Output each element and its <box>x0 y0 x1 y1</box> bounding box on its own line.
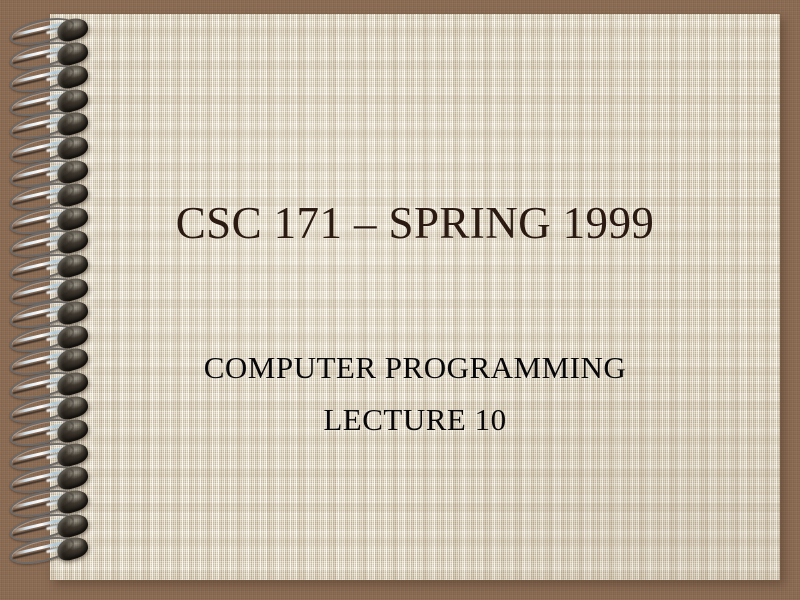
slide-subtitle-line-1: COMPUTER PROGRAMMING <box>50 352 780 383</box>
slide-text-block: CSC 171 – SPRING 1999 COMPUTER PROGRAMMI… <box>50 14 780 580</box>
slide-title: CSC 171 – SPRING 1999 <box>50 200 780 247</box>
slide-subtitle-line-2: LECTURE 10 <box>50 404 780 435</box>
notepad-paper-sheet: CSC 171 – SPRING 1999 COMPUTER PROGRAMMI… <box>50 14 780 580</box>
slide-canvas: CSC 171 – SPRING 1999 COMPUTER PROGRAMMI… <box>0 0 800 600</box>
